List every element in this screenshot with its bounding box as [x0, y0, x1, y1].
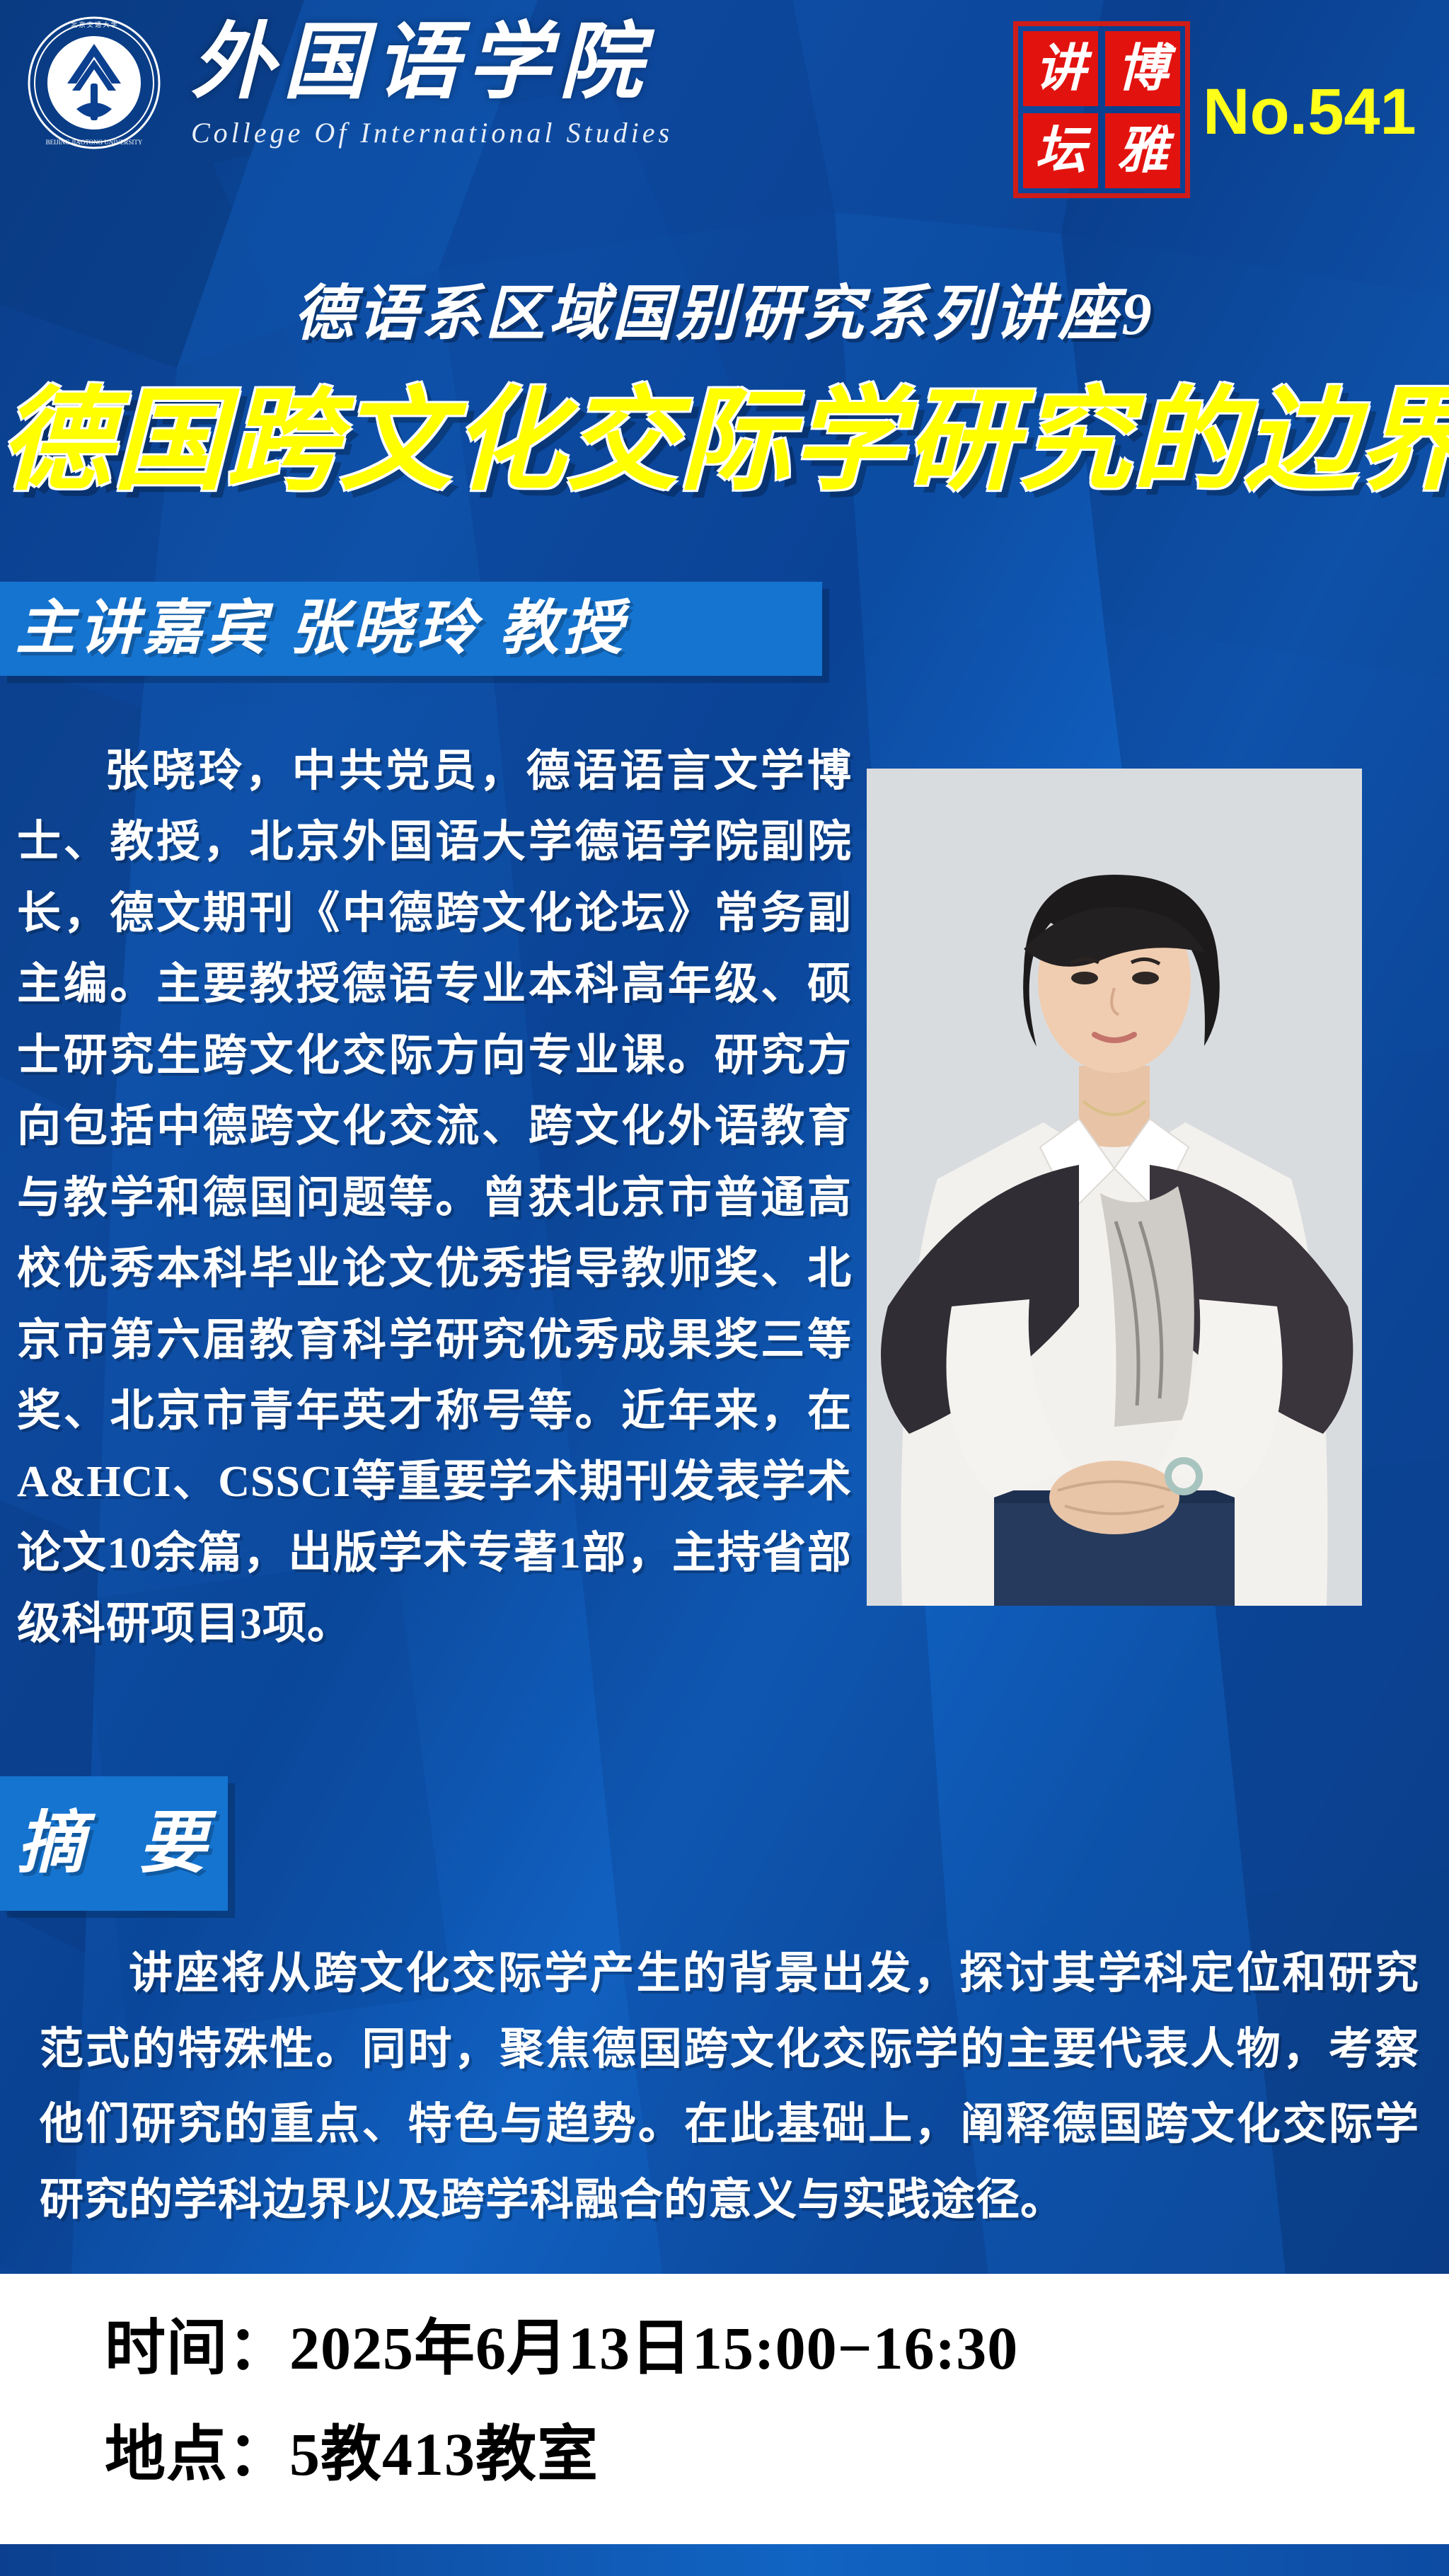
school-name-cn: 外国语学院 [191, 21, 983, 105]
svg-text:北 京 交 通 大 学: 北 京 交 通 大 学 [71, 21, 117, 28]
event-location: 地点：5教413教室 [105, 2424, 599, 2485]
speaker-bio: 张晓玲，中共党员，德语语言文学博士、教授，北京外国语大学德语学院副院长，德文期刊… [17, 736, 852, 1660]
abstract-body: 讲座将从跨文化交际学产生的背景出发，探讨其学科定位和研究范式的特殊性。同时，聚焦… [40, 1936, 1419, 2238]
poster-header: 北 京 交 通 大 学 BEIJING JIAOTONG UNIVERSITY … [0, 0, 1449, 226]
event-time: 时间：2025年6月13日15:00−16:30 [105, 2318, 1018, 2379]
lecture-poster: 北 京 交 通 大 学 BEIJING JIAOTONG UNIVERSITY … [0, 0, 1449, 2576]
abstract-banner: 摘 要 [0, 1776, 228, 1911]
school-name-en: College Of International Studies [191, 116, 983, 149]
seal-char-4: 雅 [1105, 113, 1180, 188]
speaker-photo [867, 769, 1362, 1606]
speaker-banner: 主讲嘉宾 张晓玲 教授 [0, 582, 822, 676]
abstract-banner-label: 摘 要 [3, 1810, 225, 1878]
seal-char-2: 博 [1105, 31, 1180, 106]
svg-text:BEIJING JIAOTONG UNIVERSITY: BEIJING JIAOTONG UNIVERSITY [46, 139, 143, 146]
series-title: 德语系区域国别研究系列讲座9 [0, 282, 1449, 348]
school-name-block: 外国语学院 College Of International Studies [191, 21, 983, 156]
boya-forum-seal-icon: 讲 博 坛 雅 [1013, 21, 1190, 198]
seal-char-3: 坛 [1023, 113, 1098, 188]
issue-number: No.541 [1203, 79, 1416, 144]
footer-accent-strip [0, 2544, 1449, 2576]
speaker-banner-label: 主讲嘉宾 张晓玲 教授 [0, 599, 627, 659]
seal-character-grid: 讲 博 坛 雅 [1023, 31, 1180, 188]
seal-char-1: 讲 [1023, 31, 1098, 106]
university-emblem-icon: 北 京 交 通 大 学 BEIJING JIAOTONG UNIVERSITY [27, 16, 161, 150]
page-title: 德国跨文化交际学研究的边界与融合 [0, 382, 1449, 503]
footer-info-box: 时间：2025年6月13日15:00−16:30 地点：5教413教室 [0, 2274, 1449, 2544]
